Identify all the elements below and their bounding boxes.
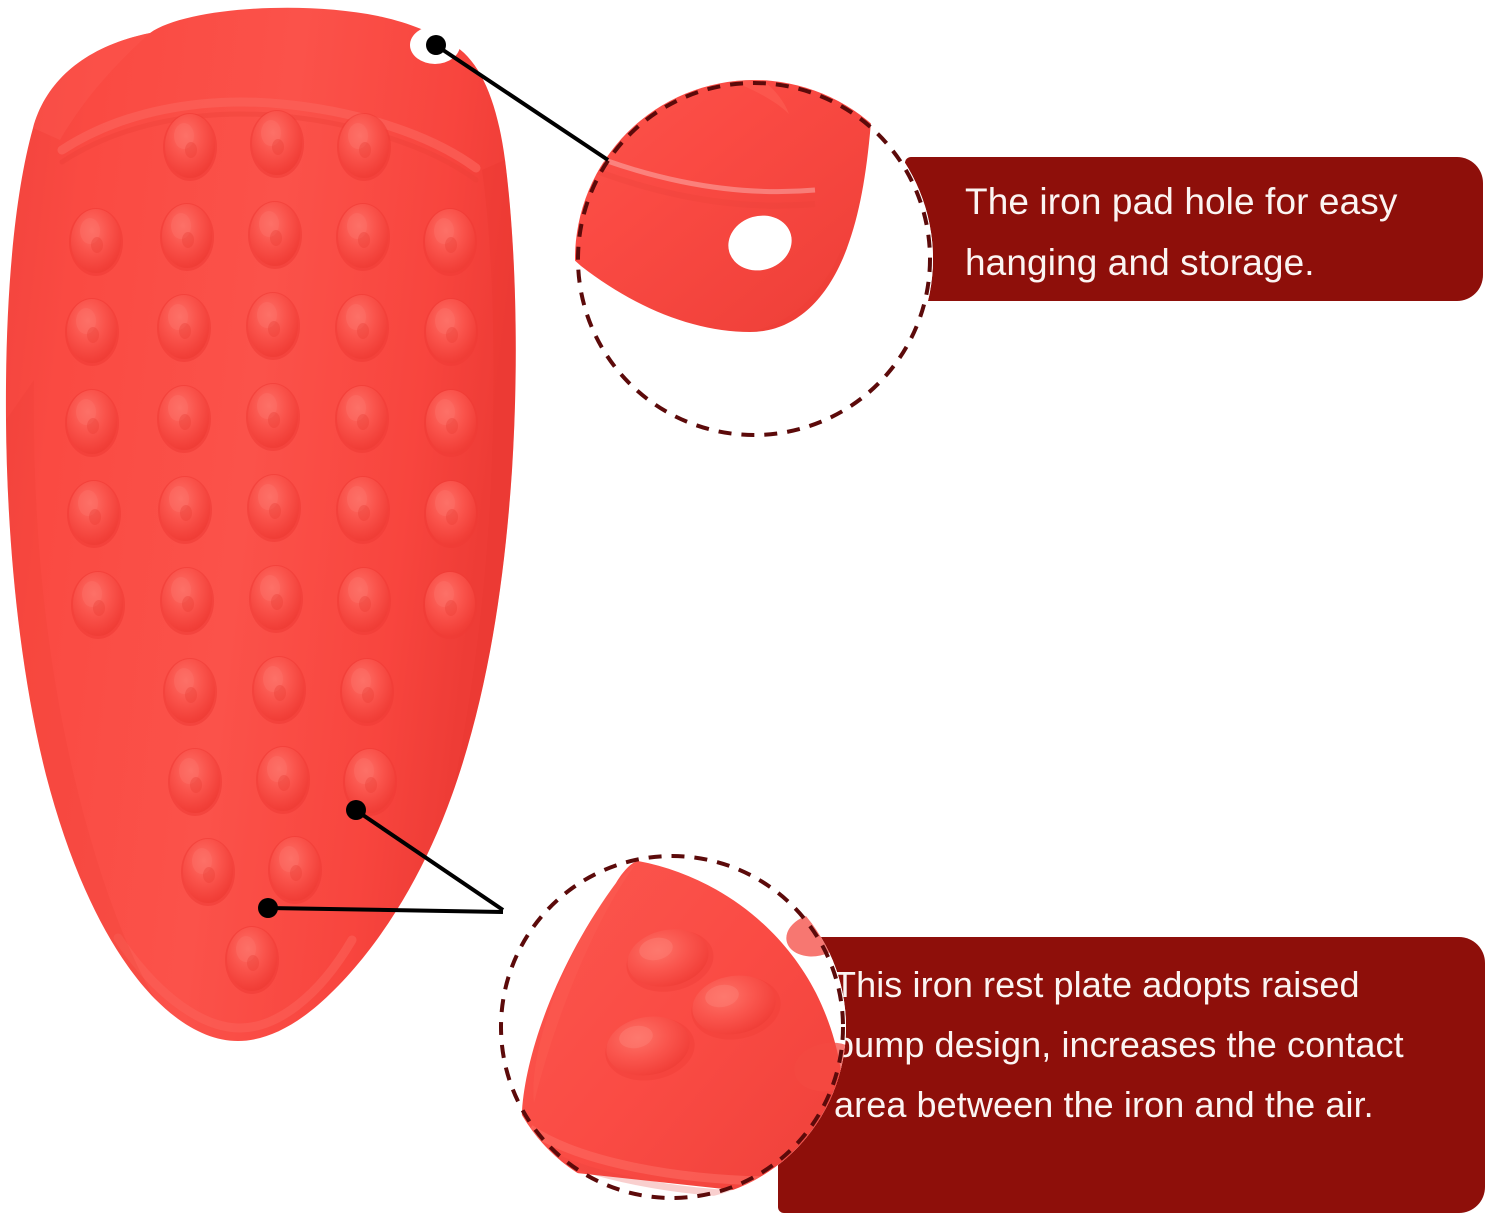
callout-text-hanging-hole: The iron pad hole for easy hanging and s… bbox=[965, 171, 1457, 293]
magnified-hanging-hole-view bbox=[575, 80, 933, 438]
callout-text-raised-bump: This iron rest plate adopts raised bump … bbox=[834, 955, 1459, 1135]
raised-bump-magnifier bbox=[498, 853, 846, 1201]
magnified-bump-tip-view bbox=[498, 853, 846, 1201]
callout-box-hanging-hole: The iron pad hole for easy hanging and s… bbox=[905, 157, 1483, 301]
hanging-hole bbox=[410, 26, 460, 64]
hanging-hole-magnifier bbox=[575, 80, 933, 438]
callout-box-raised-bump: This iron rest plate adopts raised bump … bbox=[778, 937, 1485, 1213]
infographic-canvas: The iron pad hole for easy hanging and s… bbox=[0, 0, 1489, 1221]
